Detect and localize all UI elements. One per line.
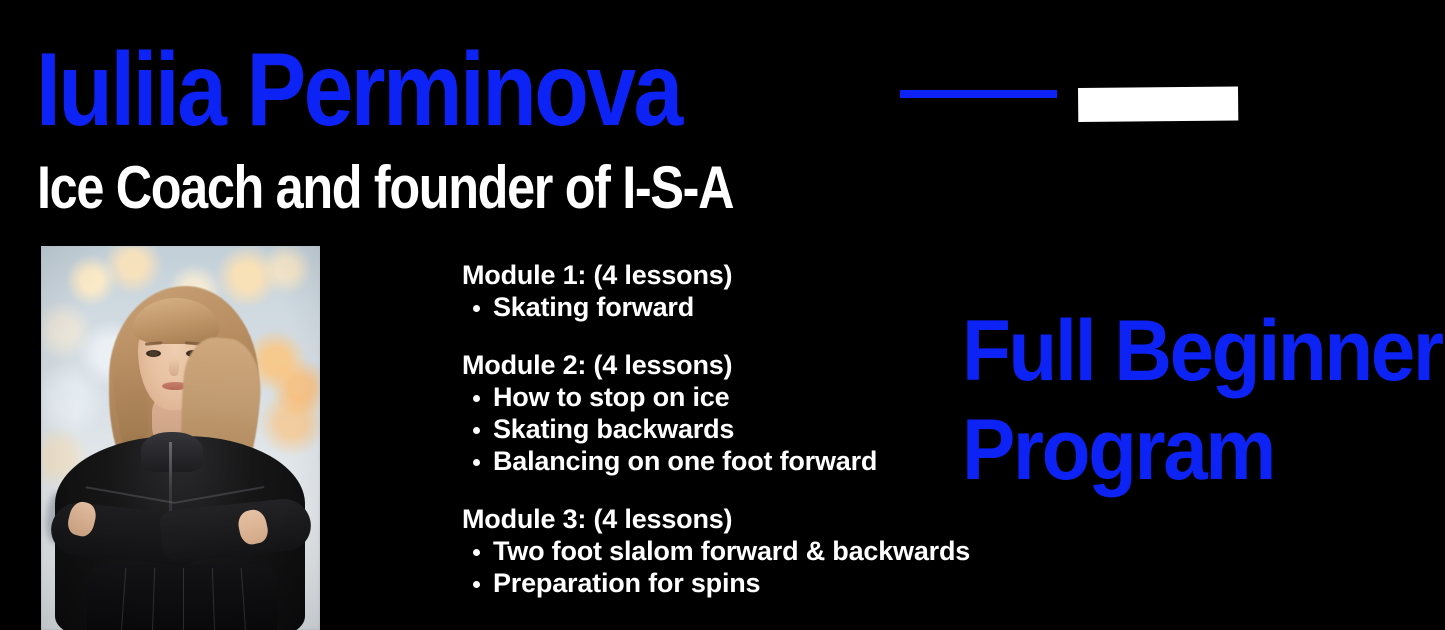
curriculum-list: Module 1: (4 lessons) Skating forward Mo… xyxy=(462,259,982,599)
list-item: How to stop on ice xyxy=(462,381,982,413)
lower-torso-panel xyxy=(87,564,277,630)
coach-portrait-photo xyxy=(41,246,320,630)
module-lesson-list: Skating forward xyxy=(462,291,982,323)
page-subtitle: Ice Coach and founder of I-S-A xyxy=(37,157,733,219)
list-item: Skating forward xyxy=(462,291,982,323)
nose xyxy=(169,358,179,376)
program-callout-line-1: Full Beginner xyxy=(962,302,1442,401)
slide-canvas: Iuliia Perminova Ice Coach and founder o… xyxy=(0,0,1445,630)
list-item: Preparation for spins xyxy=(462,567,982,599)
blue-divider-rule xyxy=(900,90,1057,98)
page-title: Iuliia Perminova xyxy=(36,38,681,142)
module-block: Module 2: (4 lessons) How to stop on ice… xyxy=(462,349,982,477)
module-title: Module 3: (4 lessons) xyxy=(462,503,982,535)
module-title: Module 2: (4 lessons) xyxy=(462,349,982,381)
program-callout: Full Beginner Program xyxy=(962,302,1442,500)
list-item: Two foot slalom forward & backwards xyxy=(462,535,982,567)
list-item: Balancing on one foot forward xyxy=(462,445,982,477)
module-block: Module 1: (4 lessons) Skating forward xyxy=(462,259,982,323)
eye-left xyxy=(146,350,161,357)
module-title: Module 1: (4 lessons) xyxy=(462,259,982,291)
list-item: Skating backwards xyxy=(462,413,982,445)
module-lesson-list: How to stop on ice Skating backwards Bal… xyxy=(462,381,982,477)
module-block: Module 3: (4 lessons) Two foot slalom fo… xyxy=(462,503,982,599)
jacket-collar xyxy=(141,432,203,472)
module-lesson-list: Two foot slalom forward & backwards Prep… xyxy=(462,535,982,599)
white-divider-rule xyxy=(1078,86,1238,122)
program-callout-line-2: Program xyxy=(962,401,1442,500)
panel-line-3 xyxy=(183,568,184,630)
